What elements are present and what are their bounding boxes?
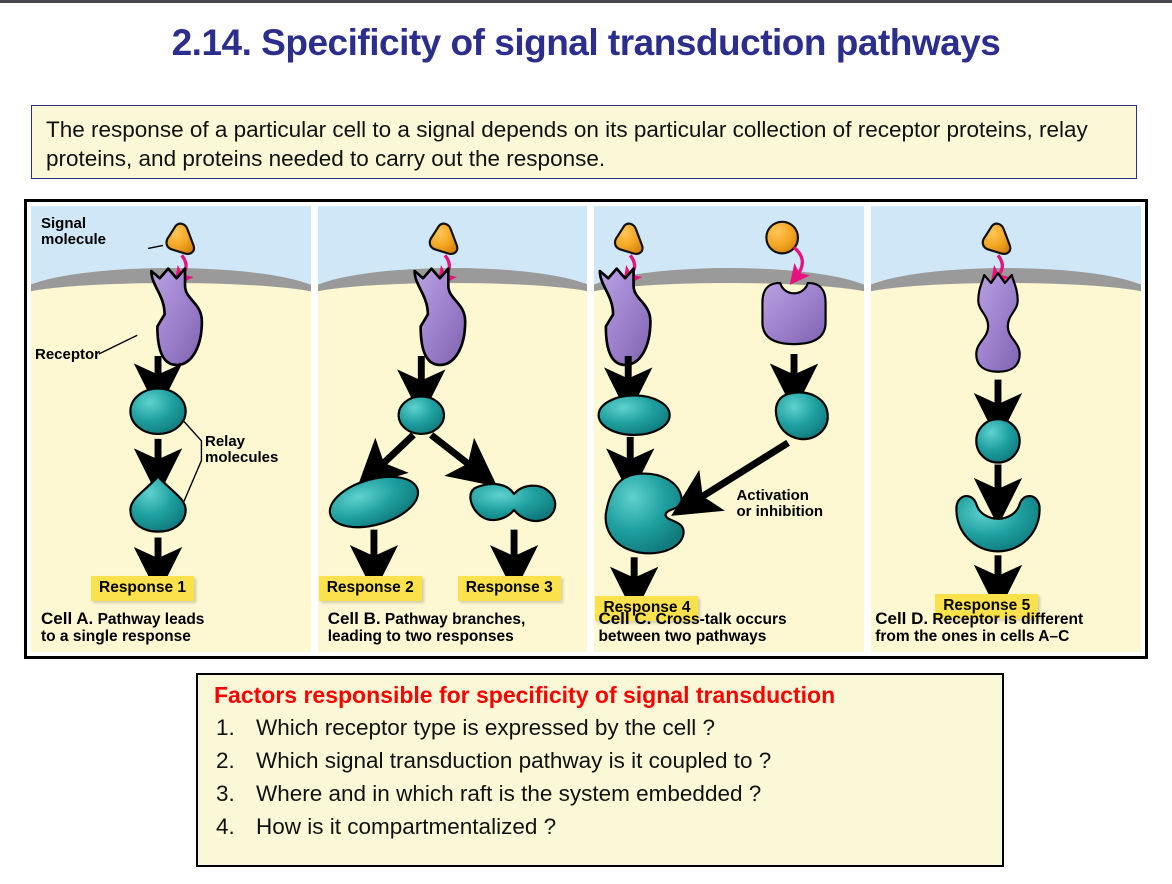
caption-cell-b: Cell B. Pathway branches, leading to two…	[328, 610, 526, 645]
receptor-shape	[151, 269, 202, 365]
list-item: 2.Which signal transduction pathway is i…	[214, 744, 1002, 777]
caption-cell-a: Cell A. Pathway leads to a single respon…	[41, 610, 204, 645]
caption-cell-c-bold: Cell C.	[598, 609, 651, 628]
list-item: 1.Which receptor type is expressed by th…	[214, 711, 1002, 744]
caption-cell-d: Cell D. Receptor is different from the o…	[875, 610, 1083, 645]
relay-molecules-label: Relay molecules	[205, 434, 278, 466]
relay-leader-line	[184, 421, 202, 502]
signal-molecule-icon	[167, 224, 194, 254]
signal-molecule-icon	[983, 224, 1010, 254]
list-number: 1.	[216, 711, 235, 744]
list-number: 2.	[216, 744, 235, 777]
relay-molecule-1	[130, 389, 185, 434]
list-text: Which receptor type is expressed by the …	[256, 715, 715, 740]
factors-list: 1.Which receptor type is expressed by th…	[214, 711, 1002, 843]
panel-cell-c: Activation or inhibition Response 4 Cell…	[594, 206, 864, 652]
relay-molecule-crosstalk-target	[606, 474, 684, 554]
signal-transduction-figure: Signal molecule Receptor Relay molecules…	[24, 199, 1148, 659]
caption-cell-d-bold: Cell D.	[875, 609, 928, 628]
top-rule	[0, 0, 1172, 3]
signal-molecule-icon-left	[615, 224, 642, 254]
receptor-shape-left	[600, 269, 651, 365]
list-item: 3.Where and in which raft is the system …	[214, 777, 1002, 810]
list-text: Where and in which raft is the system em…	[256, 781, 761, 806]
list-item: 4.How is it compartmentalized ?	[214, 810, 1002, 843]
signal-molecule-label: Signal molecule	[41, 216, 106, 248]
signal-leader-line	[148, 245, 163, 248]
receptor-label: Receptor	[35, 347, 100, 363]
caption-cell-c: Cell C. Cross-talk occurs between two pa…	[598, 610, 786, 645]
relay-molecule-1	[398, 396, 443, 433]
receptor-shape-right	[763, 283, 826, 344]
branch-arrow-left	[376, 435, 413, 471]
relay-molecule-2	[130, 476, 185, 531]
response-badge-2: Response 2	[319, 576, 422, 601]
list-text: How is it compartmentalized ?	[256, 814, 556, 839]
relay-molecule-left	[324, 468, 424, 537]
list-number: 3.	[216, 777, 235, 810]
caption-cell-b-bold: Cell B.	[328, 609, 381, 628]
response-badge-3: Response 3	[458, 576, 561, 601]
cell-d-diagram	[871, 206, 1141, 652]
relay-molecule-right	[470, 484, 555, 521]
panel-cell-b: Response 2 Response 3 Cell B. Pathway br…	[318, 206, 588, 652]
list-number: 4.	[216, 810, 235, 843]
factors-heading: Factors responsible for specificity of s…	[214, 682, 1002, 709]
response-badge-1: Response 1	[91, 576, 194, 601]
receptor-shape	[414, 269, 465, 365]
cell-c-diagram	[594, 206, 864, 652]
page-title: 2.14. Specificity of signal transduction…	[0, 22, 1172, 64]
list-text: Which signal transduction pathway is it …	[256, 748, 771, 773]
receptor-leader-line	[99, 335, 137, 354]
relay-molecule-1	[976, 419, 1019, 462]
relay-molecule-right	[776, 392, 828, 439]
receptor-shape	[976, 273, 1019, 372]
signal-molecule-icon	[429, 224, 456, 254]
panel-cell-a: Signal molecule Receptor Relay molecules…	[31, 206, 311, 652]
panel-cell-d: Response 5 Cell D. Receptor is different…	[871, 206, 1141, 652]
relay-molecule-left	[599, 395, 670, 434]
intro-text: The response of a particular cell to a s…	[46, 117, 1088, 171]
intro-statement-box: The response of a particular cell to a s…	[31, 105, 1137, 179]
crosstalk-label: Activation or inhibition	[736, 488, 823, 520]
branch-arrow-right	[431, 435, 476, 471]
factors-box: Factors responsible for specificity of s…	[196, 673, 1004, 867]
relay-molecule-2	[957, 496, 1040, 551]
ligand-binding-arrow-right	[794, 247, 802, 277]
caption-cell-a-bold: Cell A.	[41, 609, 93, 628]
